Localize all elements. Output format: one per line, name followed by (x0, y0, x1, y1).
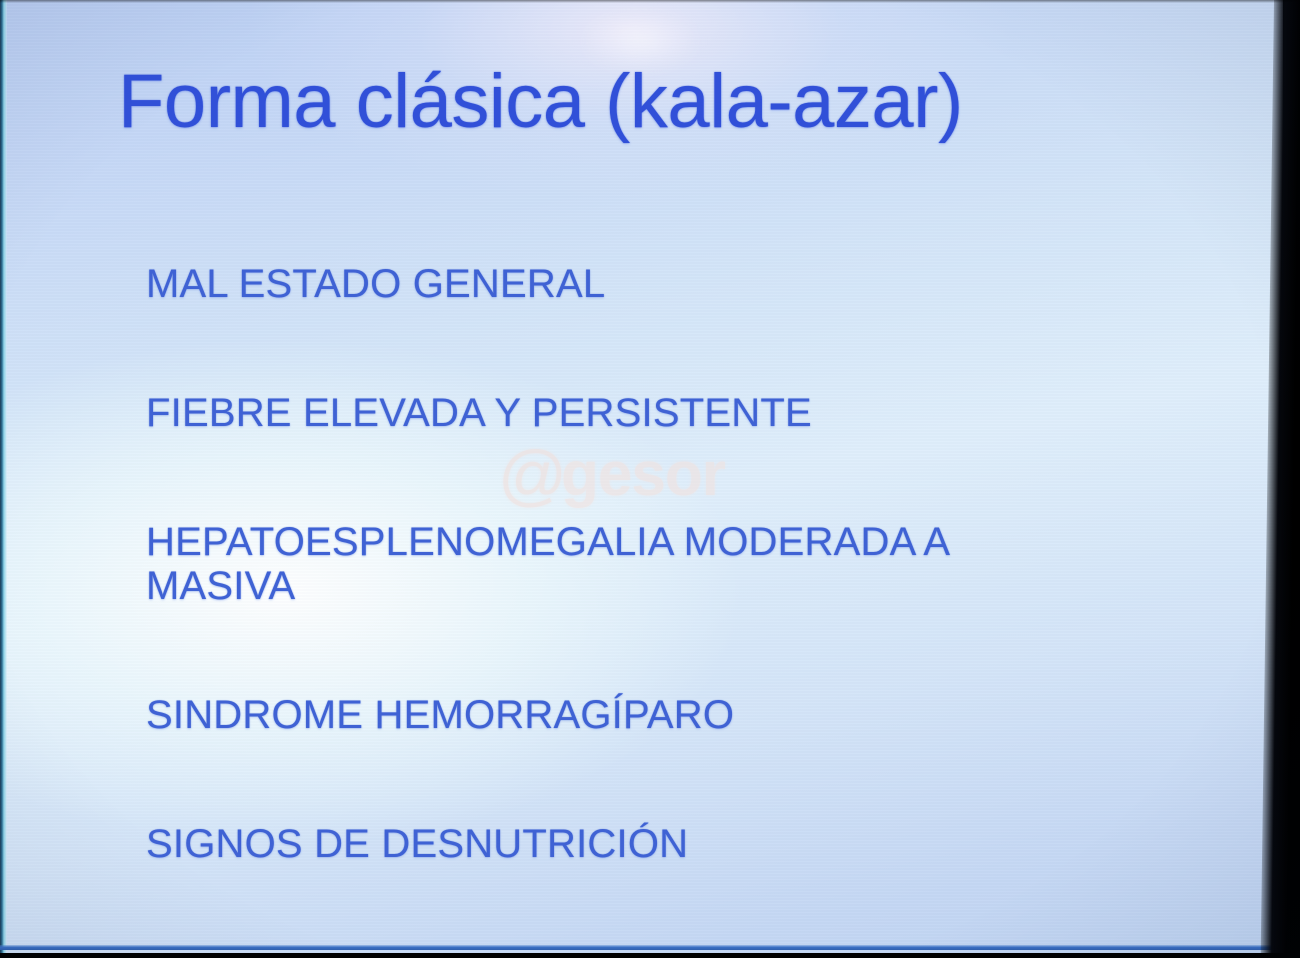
slide-surface: @ gesor Forma clásica (kala-azar) MAL ES… (0, 0, 1283, 954)
watermark: @ gesor (498, 432, 798, 518)
screen-bottom-rule (0, 945, 1283, 950)
slide-bullet-list: MAL ESTADO GENERAL FIEBRE ELEVADA Y PERS… (146, 262, 1106, 867)
screen-left-edge (0, 0, 7, 954)
bullet-item: SIGNOS DE DESNUTRICIÓN (146, 822, 1106, 867)
bullet-item: HEPATOESPLENOMEGALIA MODERADA A MASIVA (146, 520, 1106, 610)
bullet-item: MAL ESTADO GENERAL (146, 262, 1106, 307)
watermark-word: gesor (561, 444, 725, 506)
bullet-item: FIEBRE ELEVADA Y PERSISTENTE (146, 391, 1106, 436)
projected-slide-photograph: @ gesor Forma clásica (kala-azar) MAL ES… (0, 0, 1300, 958)
slide-title: Forma clásica (kala-azar) (118, 64, 963, 140)
slide-content: Forma clásica (kala-azar) MAL ESTADO GEN… (0, 0, 1283, 954)
at-sign-icon: @ (498, 441, 565, 509)
bullet-item: SINDROME HEMORRAGÍPARO (146, 693, 1106, 738)
